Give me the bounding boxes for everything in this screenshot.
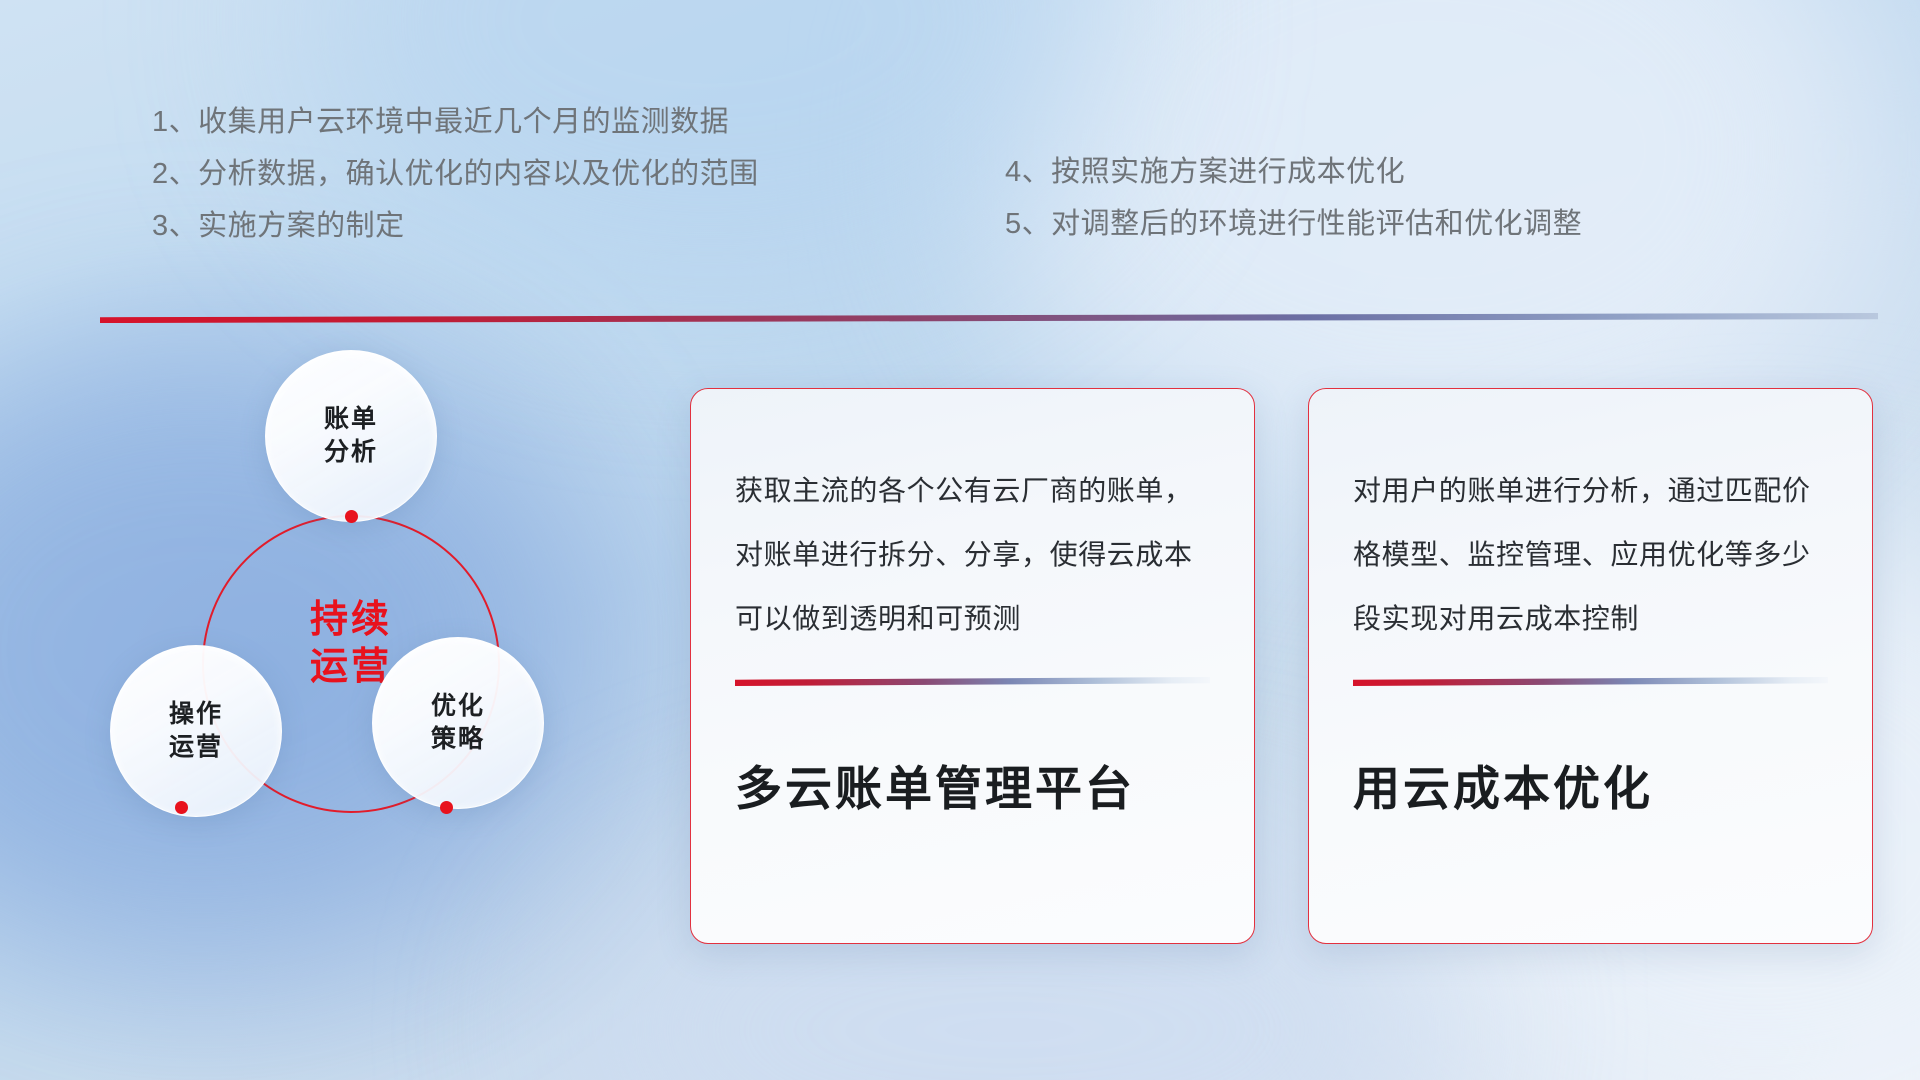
slide-canvas: 1、收集用户云环境中最近几个月的监测数据 2、分析数据，确认优化的内容以及优化的… bbox=[0, 0, 1920, 1080]
diagram-node-operations-line2: 运营 bbox=[169, 731, 223, 764]
diagram-connector-dot-right bbox=[440, 801, 453, 814]
steps-column-left: 1、收集用户云环境中最近几个月的监测数据 2、分析数据，确认优化的内容以及优化的… bbox=[152, 96, 759, 252]
diagram-node-bill-analysis[interactable]: 账单 分析 bbox=[265, 350, 437, 522]
step-item-1: 1、收集用户云环境中最近几个月的监测数据 bbox=[152, 96, 759, 148]
card-multicloud-billing-platform-divider bbox=[735, 677, 1210, 686]
card-cloud-cost-optimization[interactable]: 对用户的账单进行分析，通过匹配价格模型、监控管理、应用优化等多少段实现对用云成本… bbox=[1308, 388, 1873, 944]
section-divider-bar bbox=[100, 313, 1878, 323]
diagram-node-operations[interactable]: 操作 运营 bbox=[110, 645, 282, 817]
card-divider-bar bbox=[1353, 677, 1828, 686]
steps-list: 1、收集用户云环境中最近几个月的监测数据 2、分析数据，确认优化的内容以及优化的… bbox=[0, 96, 1920, 256]
card-cloud-cost-optimization-divider bbox=[1353, 677, 1828, 686]
step-item-2: 2、分析数据，确认优化的内容以及优化的范围 bbox=[152, 148, 759, 200]
card-cloud-cost-optimization-title: 用云成本优化 bbox=[1353, 760, 1828, 818]
step-item-3: 3、实施方案的制定 bbox=[152, 200, 759, 252]
steps-column-right: 4、按照实施方案进行成本优化 5、对调整后的环境进行性能评估和优化调整 bbox=[1005, 146, 1582, 250]
diagram-node-operations-line1: 操作 bbox=[169, 698, 223, 731]
card-multicloud-billing-platform[interactable]: 获取主流的各个公有云厂商的账单，对账单进行拆分、分享，使得云成本可以做到透明和可… bbox=[690, 388, 1255, 944]
diagram-node-optimization-strategy[interactable]: 优化 策略 bbox=[372, 637, 544, 809]
section-divider-rule bbox=[100, 313, 1878, 323]
diagram-node-optimization-strategy-line1: 优化 bbox=[431, 690, 485, 723]
continuous-operation-diagram: 持续 运营 账单 分析 操作 运营 优化 策略 bbox=[100, 355, 630, 935]
diagram-node-bill-analysis-line2: 分析 bbox=[324, 436, 378, 469]
step-item-4: 4、按照实施方案进行成本优化 bbox=[1005, 146, 1582, 198]
diagram-connector-dot-top bbox=[345, 510, 358, 523]
diagram-connector-dot-left bbox=[175, 801, 188, 814]
card-divider-bar bbox=[735, 677, 1210, 686]
diagram-node-optimization-strategy-line2: 策略 bbox=[431, 723, 485, 756]
card-multicloud-billing-platform-title: 多云账单管理平台 bbox=[735, 760, 1210, 818]
card-multicloud-billing-platform-body: 获取主流的各个公有云厂商的账单，对账单进行拆分、分享，使得云成本可以做到透明和可… bbox=[735, 459, 1210, 651]
step-item-5: 5、对调整后的环境进行性能评估和优化调整 bbox=[1005, 198, 1582, 250]
diagram-node-bill-analysis-line1: 账单 bbox=[324, 403, 378, 436]
card-cloud-cost-optimization-body: 对用户的账单进行分析，通过匹配价格模型、监控管理、应用优化等多少段实现对用云成本… bbox=[1353, 459, 1828, 651]
